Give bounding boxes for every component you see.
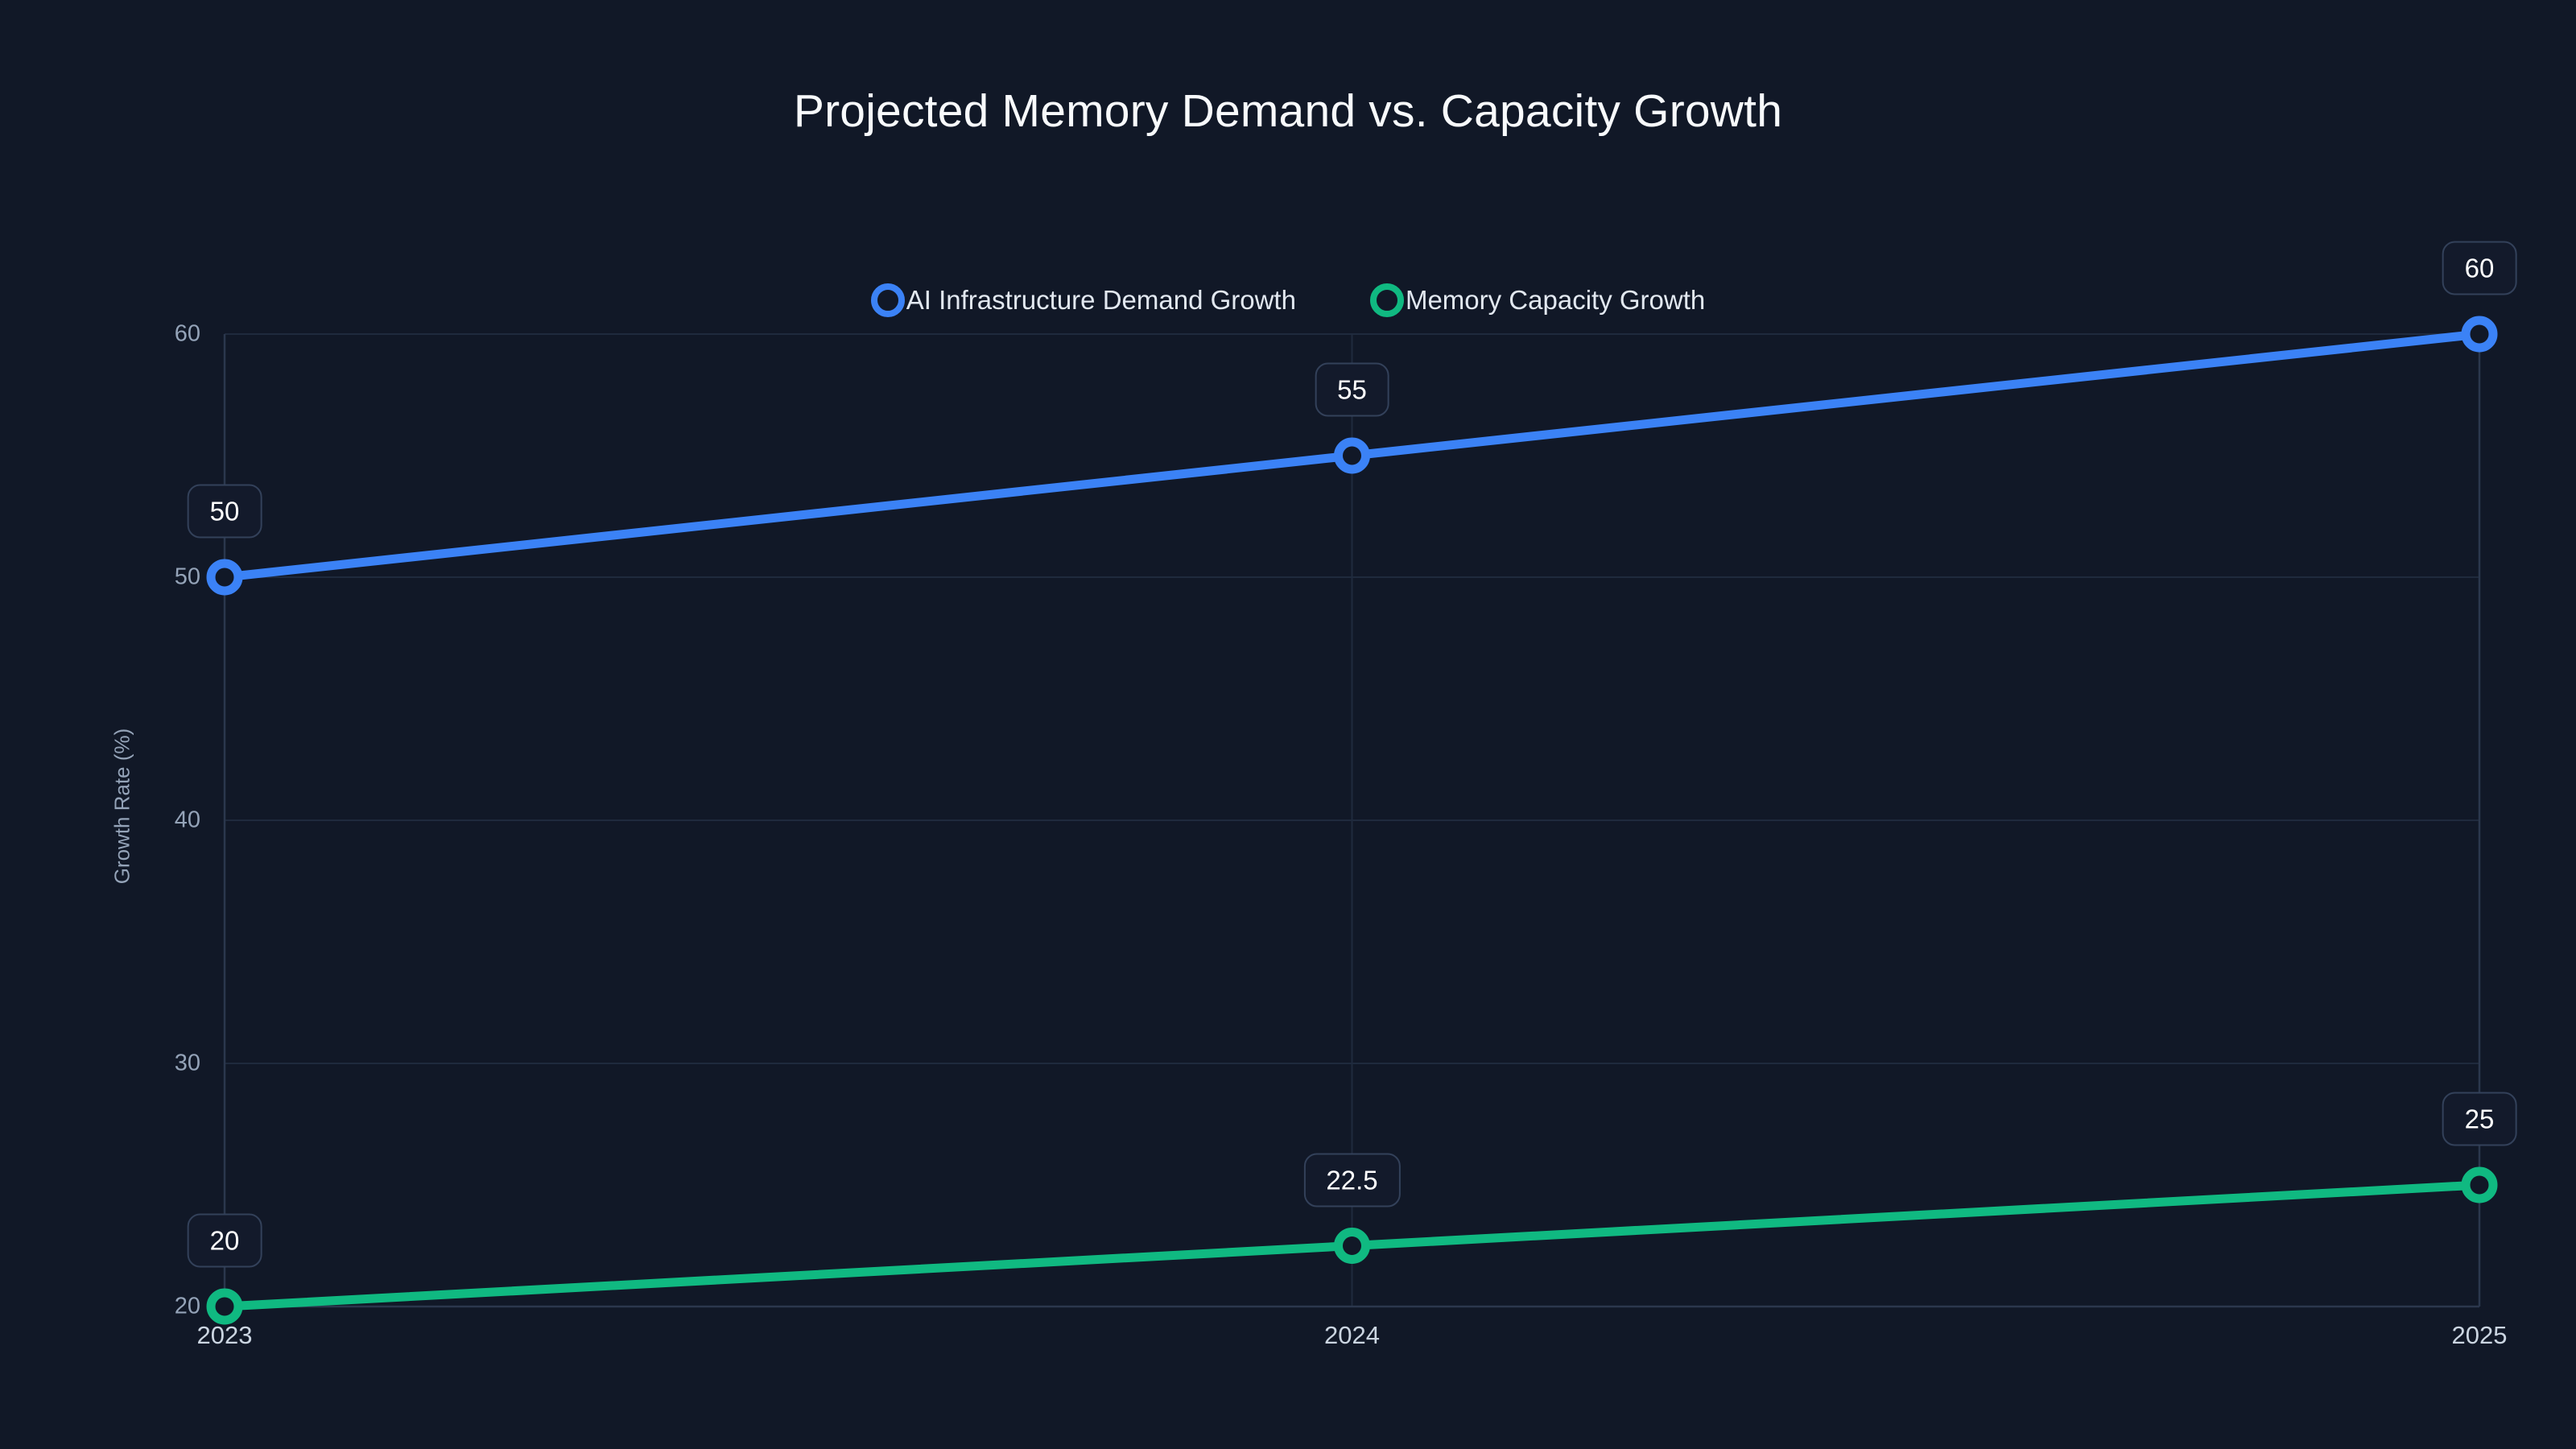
data-point-label: 20: [188, 1214, 262, 1268]
x-axis-tick-label: 2025: [2399, 1321, 2560, 1350]
chart-container: Projected Memory Demand vs. Capacity Gro…: [0, 0, 2576, 1449]
y-axis-tick-label: 50: [104, 564, 200, 591]
data-point-label: 25: [2442, 1092, 2517, 1146]
y-axis-title: Growth Rate (%): [109, 728, 134, 884]
x-axis-tick-label: 2024: [1272, 1321, 1433, 1350]
y-axis-tick-label: 60: [104, 321, 200, 348]
data-point-label: 22.5: [1303, 1153, 1400, 1207]
data-point-label: 50: [188, 485, 262, 539]
plot-area: [0, 0, 2576, 1449]
y-axis-tick-label: 30: [104, 1051, 200, 1077]
x-axis-tick-label: 2023: [144, 1321, 305, 1350]
y-axis-tick-label: 20: [104, 1294, 200, 1320]
data-point-label: 60: [2442, 242, 2517, 295]
data-point-label: 55: [1315, 363, 1389, 417]
